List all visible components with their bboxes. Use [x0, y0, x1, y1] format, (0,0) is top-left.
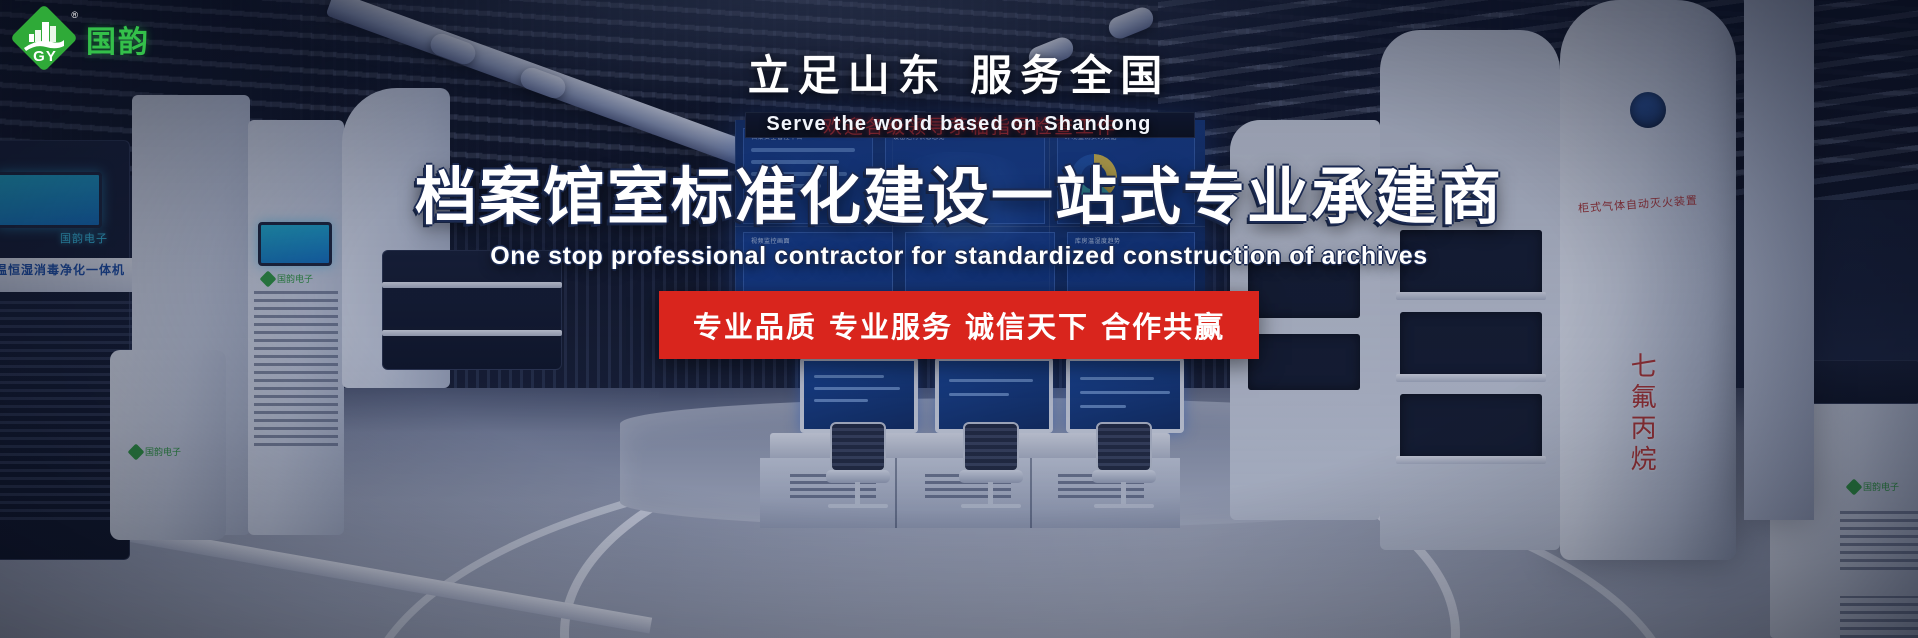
hero-kicker-en: Serve the world based on Shandong — [0, 113, 1918, 136]
gy-diamond-icon — [1846, 478, 1863, 495]
site-logo[interactable]: ® GY 国韵 — [14, 8, 150, 70]
monitor-line — [814, 375, 884, 378]
equipment-brand-text: 国韵电子 — [1863, 480, 1899, 493]
equipment-brand-text: 国韵电子 — [145, 445, 181, 458]
ahu-louver — [1840, 596, 1918, 638]
registered-trademark-icon: ® — [71, 10, 78, 20]
chair-back — [1096, 422, 1152, 472]
gy-diamond-icon — [128, 443, 145, 460]
shelf-plate — [1396, 456, 1546, 464]
logo-mark-text: GY — [33, 48, 57, 65]
chair-back — [963, 422, 1019, 472]
shelf-plate — [1396, 374, 1546, 382]
chair-back — [830, 422, 886, 472]
fire-agent-vertical-label: 七氟丙烷 — [1626, 352, 1655, 476]
monitor-line — [814, 399, 868, 402]
desk-divider — [1030, 458, 1032, 528]
monitor-line — [1080, 391, 1170, 394]
chair-stem — [1121, 482, 1126, 506]
monitor-line — [814, 387, 900, 390]
shelf-bay — [1400, 394, 1542, 460]
chair-base — [961, 504, 1021, 508]
chair-stem — [988, 482, 993, 506]
chair-base — [1094, 504, 1154, 508]
ahu-louver — [1840, 510, 1918, 570]
desk-divider — [895, 458, 897, 528]
hero-kicker-cn: 立足山东 服务全国 — [0, 42, 1918, 103]
chair-base — [828, 504, 888, 508]
equipment-brand-badge: 国韵电子 — [1848, 480, 1899, 493]
hero-slogan-ribbon: 专业品质 专业服务 诚信天下 合作共赢 — [659, 291, 1259, 359]
gy-diamond-logo-icon: ® GY — [14, 8, 76, 70]
brand-name: 国韵 — [86, 17, 150, 61]
hero-ribbon-wrap: 专业品质 专业服务 诚信天下 合作共赢 — [0, 291, 1918, 359]
monitor-line — [949, 393, 1009, 396]
equipment-brand-badge: 国韵电子 — [130, 445, 181, 458]
hero-headline-cn: 档案馆室标准化建设一站式专业承建商 — [0, 146, 1918, 236]
hero-headline-en: One stop professional contractor for sta… — [0, 242, 1918, 271]
monitor-line — [1080, 377, 1154, 380]
hero-copy: 立足山东 服务全国 Serve the world based on Shand… — [0, 0, 1918, 359]
monitor-line — [1080, 405, 1126, 408]
office-chair — [1088, 422, 1160, 518]
chair-stem — [855, 482, 860, 506]
monitor-line — [949, 379, 1033, 382]
office-chair — [822, 422, 894, 518]
hero-banner: 档案安全管控平台 设备运行状态总览 环境监测实时数据 33.33% 视频监控画面… — [0, 0, 1918, 638]
office-chair — [955, 422, 1027, 518]
